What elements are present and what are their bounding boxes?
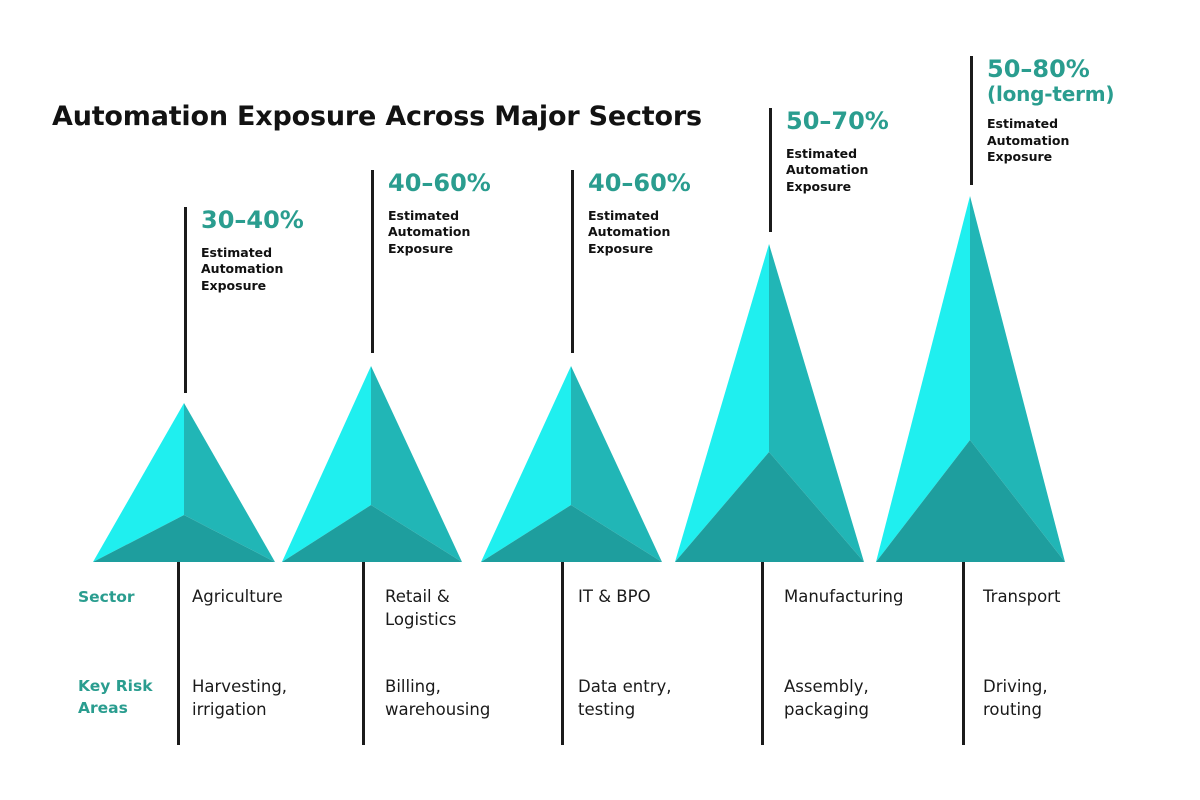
- table-cell-sector: IT & BPO: [578, 585, 651, 608]
- data-table: Sector Key Risk Areas Agriculture Retail…: [0, 562, 1200, 752]
- pyramid-face-right: [571, 366, 662, 562]
- infographic-canvas: Automation Exposure Across Major Sectors: [0, 0, 1200, 800]
- pyramid-face-left: [876, 196, 970, 562]
- table-cell-key-risk-areas: Harvesting, irrigation: [192, 675, 287, 722]
- pyramid-retail-logistics: [282, 366, 462, 562]
- pyramid-agriculture: [93, 403, 275, 562]
- table-cell-key-risk-areas: Driving, routing: [983, 675, 1048, 722]
- callout-manufacturing: 50–70% Estimated Automation Exposure: [769, 108, 889, 232]
- callout-retail-logistics: 40–60% Estimated Automation Exposure: [371, 170, 491, 353]
- pyramid-face-left: [481, 366, 571, 562]
- pyramid-face-left: [282, 366, 371, 562]
- page-title: Automation Exposure Across Major Sectors: [52, 101, 702, 132]
- callout-transport: 50–80% (long-term) Estimated Automation …: [970, 56, 1114, 185]
- table-divider: [561, 562, 564, 745]
- table-divider: [761, 562, 764, 745]
- pyramid-face-right: [970, 196, 1065, 562]
- callout-rule: [970, 56, 973, 185]
- exposure-percent: 40–60%: [388, 170, 491, 197]
- exposure-percent-qualifier: (long-term): [987, 83, 1114, 105]
- pyramid-face-right: [184, 403, 275, 562]
- callout-rule: [371, 170, 374, 353]
- pyramid-face-left: [93, 403, 184, 562]
- table-divider: [362, 562, 365, 745]
- pyramid-face-front: [282, 505, 462, 562]
- exposure-subtitle: Estimated Automation Exposure: [786, 146, 889, 196]
- table-divider: [962, 562, 965, 745]
- pyramid-face-front: [93, 515, 275, 562]
- callout-rule: [184, 207, 187, 393]
- pyramid-face-front: [675, 452, 864, 562]
- exposure-subtitle: Estimated Automation Exposure: [987, 116, 1114, 166]
- table-cell-sector: Transport: [983, 585, 1060, 608]
- callout-rule: [571, 170, 574, 353]
- table-cell-sector: Agriculture: [192, 585, 283, 608]
- pyramid-face-front: [481, 505, 662, 562]
- callout-agriculture: 30–40% Estimated Automation Exposure: [184, 207, 304, 393]
- exposure-percent: 40–60%: [588, 170, 691, 197]
- table-cell-key-risk-areas: Data entry, testing: [578, 675, 672, 722]
- exposure-percent-value: 50–80%: [987, 55, 1090, 83]
- callout-rule: [769, 108, 772, 232]
- exposure-subtitle: Estimated Automation Exposure: [201, 245, 304, 295]
- pyramid-face-right: [769, 244, 864, 562]
- pyramid-transport: [876, 196, 1065, 562]
- exposure-subtitle: Estimated Automation Exposure: [588, 208, 691, 258]
- exposure-percent: 50–80% (long-term): [987, 56, 1114, 105]
- table-cell-key-risk-areas: Billing, warehousing: [385, 675, 490, 722]
- pyramid-face-right: [371, 366, 462, 562]
- pyramid-manufacturing: [675, 244, 864, 562]
- pyramid-face-front: [876, 440, 1065, 562]
- table-cell-sector: Retail & Logistics: [385, 585, 456, 632]
- pyramid-it-bpo: [481, 366, 662, 562]
- exposure-percent: 50–70%: [786, 108, 889, 135]
- exposure-percent: 30–40%: [201, 207, 304, 234]
- table-cell-key-risk-areas: Assembly, packaging: [784, 675, 869, 722]
- exposure-subtitle: Estimated Automation Exposure: [388, 208, 491, 258]
- table-cell-sector: Manufacturing: [784, 585, 903, 608]
- row-label-sector: Sector: [78, 586, 135, 608]
- callout-it-bpo: 40–60% Estimated Automation Exposure: [571, 170, 691, 353]
- row-label-key-risk-areas: Key Risk Areas: [78, 675, 153, 719]
- table-divider: [177, 562, 180, 745]
